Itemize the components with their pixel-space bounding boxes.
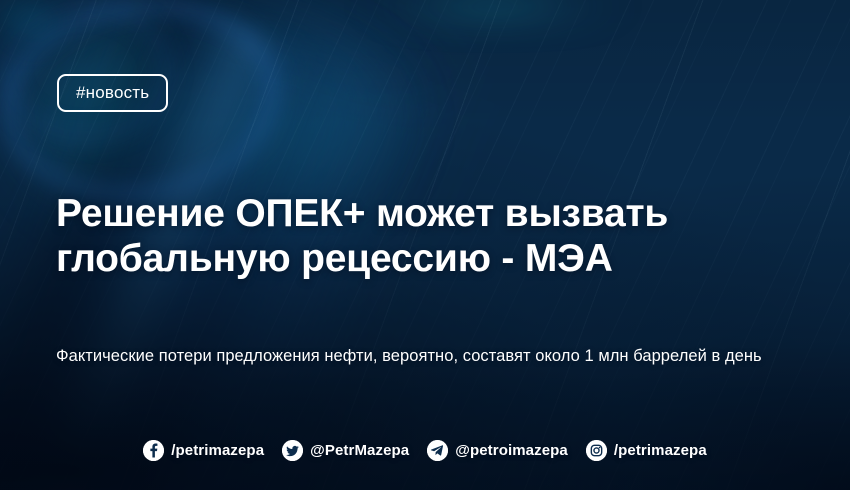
social-link-instagram[interactable]: /petrimazepa — [586, 440, 707, 461]
hashtag-badge[interactable]: #новость — [57, 74, 168, 112]
facebook-icon — [143, 440, 164, 461]
social-handle-instagram: /petrimazepa — [614, 442, 707, 459]
social-link-twitter[interactable]: @PetrMazepa — [282, 440, 409, 461]
card-content: #новость Решение ОПЕК+ может вызвать гло… — [0, 0, 850, 490]
social-links-row: /petrimazepa @PetrMazepa — [0, 434, 850, 466]
social-handle-facebook: /petrimazepa — [171, 442, 264, 459]
twitter-icon — [282, 440, 303, 461]
social-link-facebook[interactable]: /petrimazepa — [143, 440, 264, 461]
social-handle-telegram: @petroimazepa — [455, 442, 568, 459]
news-card: #новость Решение ОПЕК+ может вызвать гло… — [0, 0, 850, 490]
subtitle-text: Фактические потери предложения нефти, ве… — [56, 345, 796, 367]
page-title: Решение ОПЕК+ может вызвать глобальную р… — [56, 191, 756, 281]
social-link-telegram[interactable]: @petroimazepa — [427, 440, 568, 461]
social-handle-twitter: @PetrMazepa — [310, 442, 409, 459]
instagram-icon — [586, 440, 607, 461]
telegram-icon — [427, 440, 448, 461]
